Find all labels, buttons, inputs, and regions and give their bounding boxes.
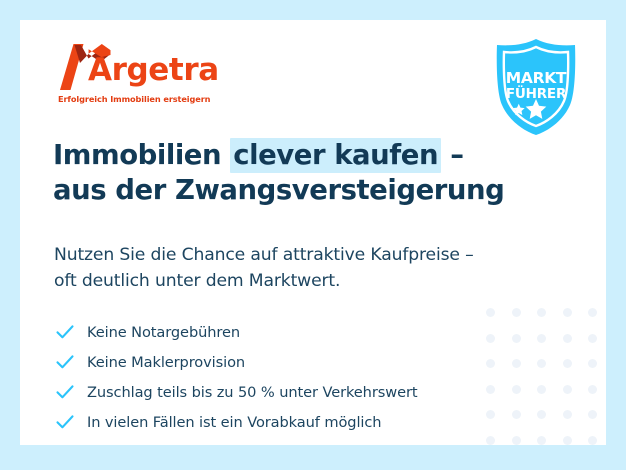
benefit-label: Zuschlag teils bis zu 50 % unter Verkehr… [87,384,417,401]
dot [588,359,597,368]
check-icon [54,351,76,373]
dot [563,334,572,343]
shield-badge-icon: MARKT FÜHRER [488,37,584,137]
list-item: Keine Maklerprovision [54,347,534,377]
logo-wordmark: Argetra [88,55,219,86]
market-leader-badge: MARKT FÜHRER [488,37,584,137]
benefit-label: Keine Notargebühren [87,324,240,341]
check-icon [54,411,76,433]
dot [486,308,495,317]
dot [563,359,572,368]
dot [588,436,597,445]
dot [537,385,546,394]
list-item: Zuschlag teils bis zu 50 % unter Verkehr… [54,377,534,407]
badge-line2: FÜHRER [506,84,567,102]
headline-line1-before: Immobilien [53,139,230,171]
benefit-label: Keine Maklerprovision [87,354,245,371]
check-icon [54,321,76,343]
subheadline: Nutzen Sie die Chance auf attraktive Kau… [54,242,574,294]
dot [588,385,597,394]
subheadline-line2: oft deutlich unter dem Marktwert. [54,271,340,291]
list-item: Keine Notargebühren [54,317,534,347]
headline-line1-after: – [441,139,463,171]
dot [588,308,597,317]
check-icon [54,381,76,403]
brand-logo[interactable]: Argetra Erfolgreich Immobilien ersteiger… [56,42,256,104]
dot [537,359,546,368]
benefits-list: Keine Notargebühren Keine Maklerprovisio… [54,317,534,437]
dot [537,410,546,419]
dot [537,308,546,317]
badge-line1: MARKT [506,69,567,87]
dot [563,436,572,445]
dot [512,436,521,445]
dot [563,308,572,317]
dot [588,334,597,343]
dot [563,410,572,419]
list-item: In vielen Fällen ist ein Vorabkauf mögli… [54,407,534,437]
headline-highlight: clever kaufen [230,138,441,173]
dot [588,410,597,419]
logo-lockup: Argetra [56,42,256,92]
dot [537,436,546,445]
promo-banner: Argetra Erfolgreich Immobilien ersteiger… [0,0,626,470]
dot [563,385,572,394]
banner-card: Argetra Erfolgreich Immobilien ersteiger… [20,20,606,445]
dot [486,436,495,445]
benefit-label: In vielen Fällen ist ein Vorabkauf mögli… [87,414,381,431]
logo-tagline: Erfolgreich Immobilien ersteigern [58,94,256,104]
dot [512,308,521,317]
headline: Immobilien clever kaufen – aus der Zwang… [53,138,573,209]
dot [537,334,546,343]
subheadline-line1: Nutzen Sie die Chance auf attraktive Kau… [54,245,474,265]
headline-line2: aus der Zwangsversteigerung [53,174,504,206]
